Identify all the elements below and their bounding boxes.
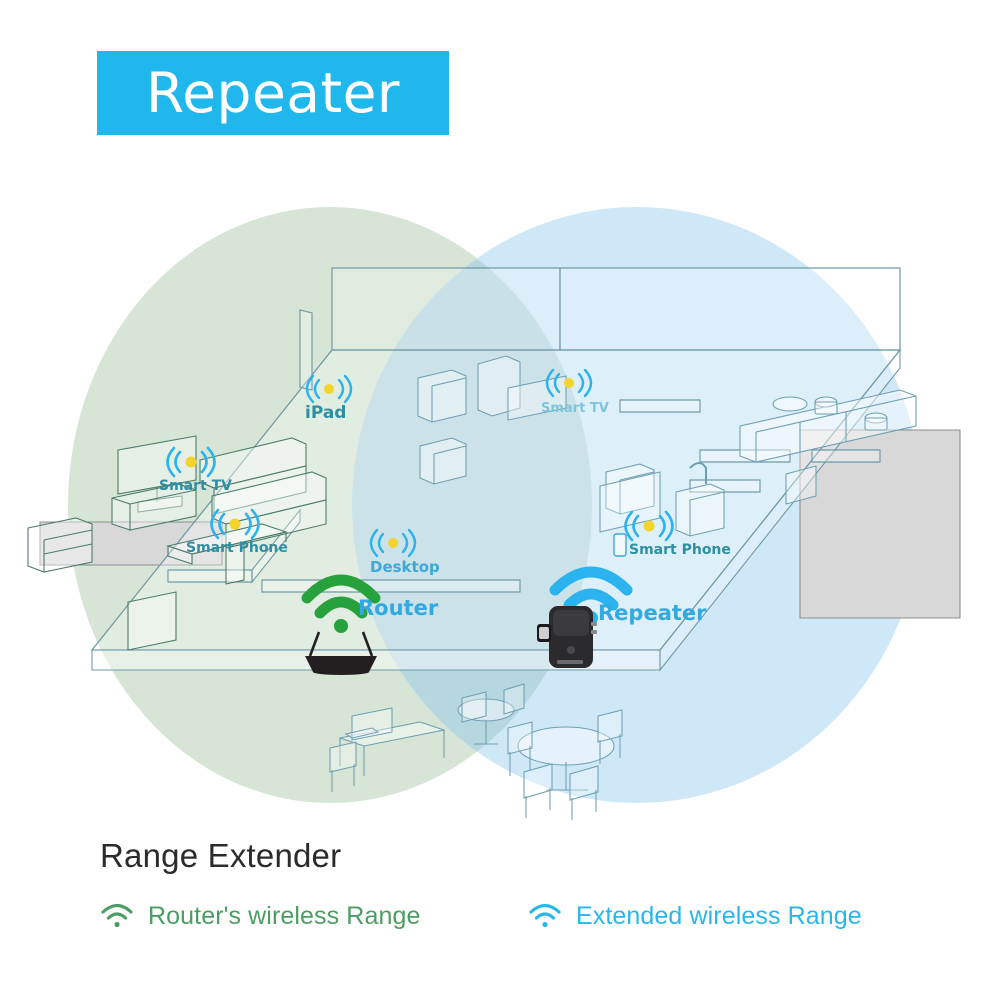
back-walls [332,268,900,350]
page-title: Repeater [146,66,400,121]
cabinet-mid-b [420,438,466,484]
phone-glyph [614,534,626,556]
partition-right-a [620,400,700,412]
svg-text:Smart Phone: Smart Phone [186,540,288,556]
pot-1 [773,397,807,411]
door-left [128,592,176,650]
wifi-icon [100,903,134,931]
partition-right-d [812,450,880,462]
cabinet-right-b [676,484,724,536]
legend-label-router-range: Router's wireless Range [148,902,420,931]
legend-item-router-range: Router's wireless Range [100,902,420,931]
cabinet-mid-a [418,370,466,422]
legend-item-extended-range: Extended wireless Range [528,902,862,931]
partition-center-long [262,580,520,592]
svg-text:Smart Phone: Smart Phone [629,542,731,558]
range-extender-heading: Range Extender [100,837,341,875]
bottom-info-block: Range Extender Router's wireless Range E… [0,830,1000,1000]
svg-text:Desktop: Desktop [370,558,440,576]
wifi-icon [528,903,562,931]
cabinet-left [28,518,92,572]
title-banner: Repeater [97,51,449,135]
router-label: Router [358,596,439,620]
legend-label-extended-range: Extended wireless Range [576,902,862,931]
svg-text:Smart TV: Smart TV [159,478,232,494]
svg-text:Smart TV: Smart TV [541,401,609,416]
repeater-label: Repeater [598,601,707,625]
wall-back-right [560,268,900,350]
wall-back-left [332,268,560,350]
svg-text:iPad: iPad [305,403,346,423]
floorplan-illustration: Router Repeater Smart TV [0,150,1000,830]
